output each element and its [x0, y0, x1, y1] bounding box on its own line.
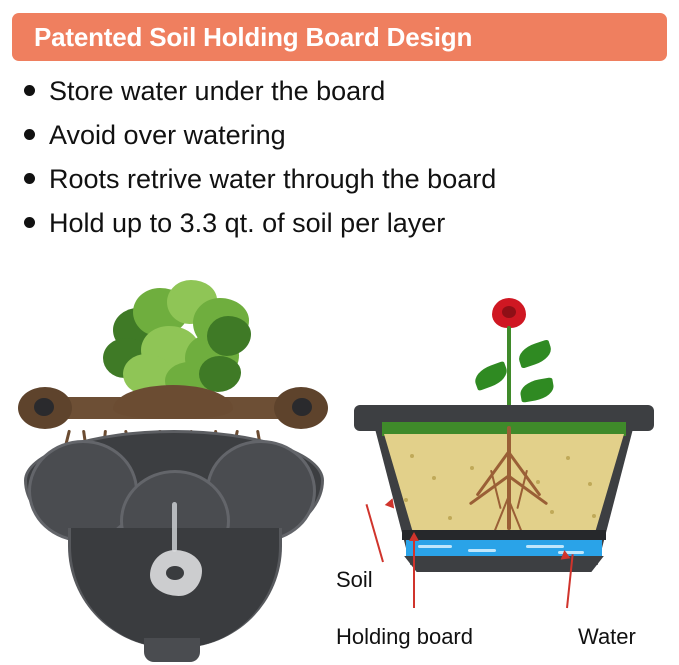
rose-leaf	[472, 361, 511, 391]
illustration-area: Soil Holding board Water	[0, 270, 679, 665]
soil-holding-board	[18, 385, 328, 433]
bullet-text: Avoid over watering	[49, 116, 286, 154]
holding-board-leader-line	[413, 536, 415, 608]
water-arrow-icon	[559, 549, 570, 559]
pot-cross-section-diagram	[340, 270, 679, 665]
water-splash	[150, 550, 202, 596]
holding-board-arrow-icon	[409, 532, 419, 541]
rose-leaf	[516, 339, 555, 369]
bullet-dot-icon	[24, 129, 35, 140]
grass-layer	[382, 422, 626, 436]
callout-label-holding-board: Holding board	[336, 624, 473, 650]
callout-label-water: Water	[578, 624, 636, 650]
stacking-planter-photo	[8, 270, 338, 665]
header-banner: Patented Soil Holding Board Design	[12, 13, 667, 61]
bullet-text: Hold up to 3.3 qt. of soil per layer	[49, 204, 445, 242]
rose-flower	[492, 298, 526, 328]
holding-board-layer	[402, 530, 606, 540]
bullet-dot-icon	[24, 173, 35, 184]
bullet-text: Roots retrive water through the board	[49, 160, 496, 198]
bullet-dot-icon	[24, 217, 35, 228]
list-item: Roots retrive water through the board	[24, 160, 664, 198]
list-item: Store water under the board	[24, 72, 664, 110]
water-stream	[172, 502, 177, 552]
list-item: Hold up to 3.3 qt. of soil per layer	[24, 204, 664, 242]
soil-leader-line	[366, 504, 384, 562]
callout-label-soil: Soil	[336, 567, 373, 593]
pot-base	[400, 556, 608, 572]
rose-leaf	[519, 377, 556, 403]
page-title: Patented Soil Holding Board Design	[34, 22, 472, 53]
bullet-dot-icon	[24, 85, 35, 96]
dark-grey-planter	[22, 430, 322, 660]
feature-bullet-list: Store water under the board Avoid over w…	[24, 72, 664, 248]
list-item: Avoid over watering	[24, 116, 664, 154]
bullet-text: Store water under the board	[49, 72, 385, 110]
